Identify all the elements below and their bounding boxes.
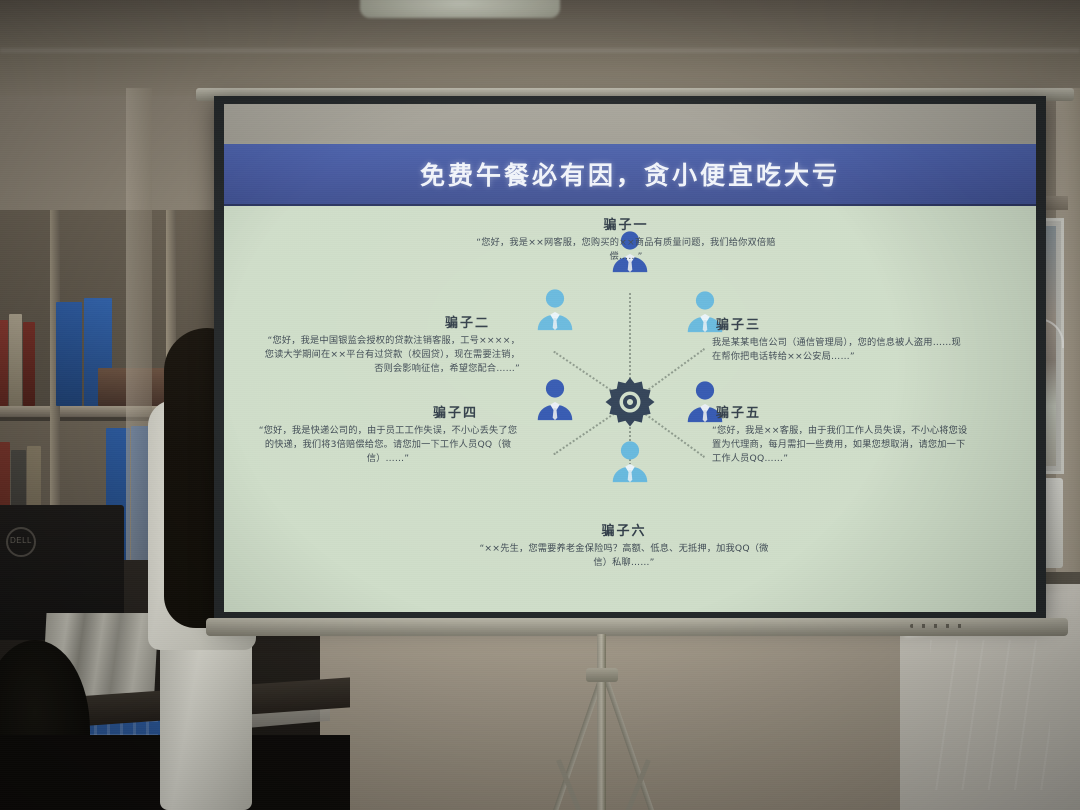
- fraud-body: “您好，我是中国银监会授权的贷款注销客服，工号××××，您读大学期间在××平台有…: [264, 334, 520, 376]
- tripod-pole: [597, 634, 606, 810]
- book: [23, 322, 35, 406]
- fraud-heading: 骗子二: [264, 312, 520, 331]
- ceiling-light-icon: [360, 0, 560, 18]
- fraud-block-5: 骗子五 “您好，我是××客服，由于我们工作人员失误，不小心将您设置为代理商，每月…: [712, 402, 972, 466]
- fraud-body: “××先生，您需要养老金保险吗？高额、低息、无抵押，加我QQ（微信）私聊……”: [474, 542, 774, 570]
- book: [0, 320, 8, 406]
- fraud-body: “您好，我是××网客服，您购买的××商品有质量问题，我们给你双倍赔偿……”: [476, 236, 776, 264]
- person-icon: [532, 286, 578, 332]
- slide-body: 骗子一 “您好，我是××网客服，您购买的××商品有质量问题，我们给你双倍赔偿………: [224, 204, 1036, 612]
- ceiling-beam: [0, 48, 1080, 53]
- blue-binder: [56, 302, 82, 406]
- fraud-heading: 骗子六: [474, 520, 774, 539]
- projection-screen: 免费午餐必有因，贪小便宜吃大亏: [224, 104, 1036, 612]
- fraud-heading: 骗子五: [712, 402, 972, 421]
- person-icon: [532, 376, 578, 422]
- book: [9, 314, 22, 406]
- person-icon: [607, 438, 653, 484]
- fraud-body: “您好，我是快递公司的，由于员工工作失误，不小心丢失了您的快递，我们将3倍赔偿给…: [256, 424, 520, 466]
- screen-bar-markings: [910, 624, 964, 628]
- slide-title: 免费午餐必有因，贪小便宜吃大亏: [420, 156, 840, 192]
- floor-reflection: [930, 640, 1050, 790]
- fraud-block-1: 骗子一 “您好，我是××网客服，您购买的××商品有质量问题，我们给你双倍赔偿………: [476, 214, 776, 264]
- dell-logo-icon: DELL: [6, 527, 36, 557]
- fraud-body: “您好，我是××客服，由于我们工作人员失误，不小心将您设置为代理商，每月需扣一些…: [712, 424, 972, 466]
- fraud-heading: 骗子四: [256, 402, 520, 421]
- fraud-heading: 骗子一: [476, 214, 776, 233]
- screenshot-root: DELL 免费午餐必有因，贪小便宜吃大亏: [0, 0, 1080, 810]
- slide: 免费午餐必有因，贪小便宜吃大亏: [224, 144, 1036, 612]
- slide-title-bar: 免费午餐必有因，贪小便宜吃大亏: [224, 144, 1036, 206]
- fraud-body: 我是某某电信公司（通信管理局），您的信息被人盗用……现在帮你把电话转给××公安局…: [712, 336, 968, 364]
- fraud-block-4: 骗子四 “您好，我是快递公司的，由于员工工作失误，不小心丢失了您的快递，我们将3…: [256, 402, 520, 466]
- presenter-legs: [160, 630, 252, 810]
- fraud-heading: 骗子三: [712, 314, 968, 333]
- ceiling: [0, 0, 1080, 96]
- fraud-block-2: 骗子二 “您好，我是中国银监会授权的贷款注销客服，工号××××，您读大学期间在×…: [264, 312, 520, 376]
- fraud-block-3: 骗子三 我是某某电信公司（通信管理局），您的信息被人盗用……现在帮你把电话转给×…: [712, 314, 968, 364]
- tripod-hub: [586, 668, 618, 682]
- fraud-block-6: 骗子六 “××先生，您需要养老金保险吗？高额、低息、无抵押，加我QQ（微信）私聊…: [474, 520, 774, 570]
- gear-icon: [602, 374, 658, 430]
